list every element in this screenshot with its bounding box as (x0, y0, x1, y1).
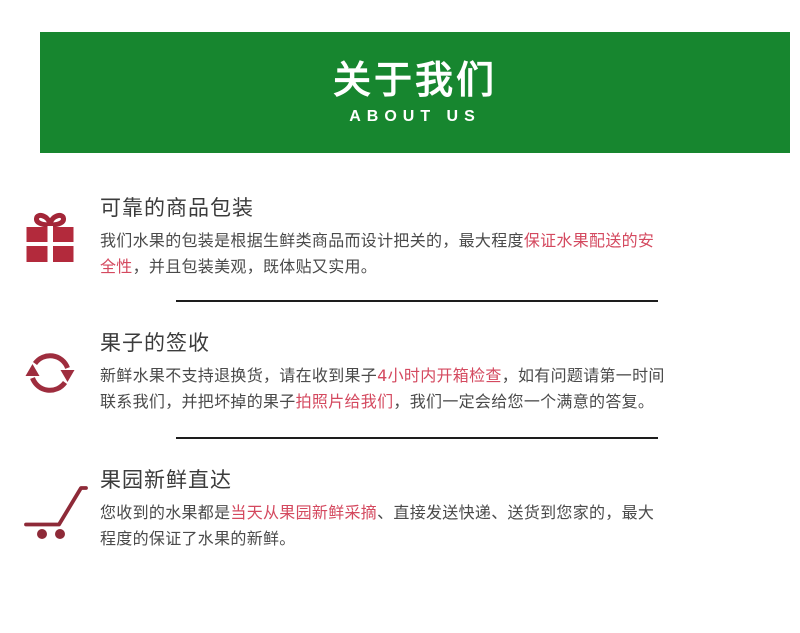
highlighted-text: 4小时内开箱检查 (377, 366, 502, 385)
feature-title: 果园新鲜直达 (100, 467, 670, 493)
feature-body: 果园新鲜直达 您收到的水果都是当天从果园新鲜采摘、直接发送快递、送货到您家的，最… (100, 467, 800, 552)
features-list: 可靠的商品包装 我们水果的包装是根据生鲜类商品而设计把关的，最大程度保证水果配送… (0, 153, 800, 572)
feature-text: 我们水果的包装是根据生鲜类商品而设计把关的，最大程度保证水果配送的安全性，并且包… (100, 228, 670, 280)
feature-item-receiving: 果子的签收 新鲜水果不支持退换货，请在收到果子4小时内开箱检查，如有问题请第一时… (0, 302, 800, 437)
feature-item-packaging: 可靠的商品包装 我们水果的包装是根据生鲜类商品而设计把关的，最大程度保证水果配送… (0, 153, 800, 300)
feature-title: 果子的签收 (100, 330, 670, 356)
refresh-cycle-icon (0, 330, 100, 404)
banner-title-chinese: 关于我们 (333, 59, 497, 104)
banner-title-english: ABOUT US (349, 108, 481, 126)
plain-text: 我们水果的包装是根据生鲜类商品而设计把关的，最大程度 (100, 231, 524, 250)
feature-title: 可靠的商品包装 (100, 195, 670, 221)
feature-item-fresh-delivery: 果园新鲜直达 您收到的水果都是当天从果园新鲜采摘、直接发送快递、送货到您家的，最… (0, 439, 800, 572)
feature-body: 可靠的商品包装 我们水果的包装是根据生鲜类商品而设计把关的，最大程度保证水果配送… (100, 195, 800, 280)
shopping-cart-icon (0, 467, 100, 541)
feature-text: 您收到的水果都是当天从果园新鲜采摘、直接发送快递、送货到您家的，最大程度的保证了… (100, 500, 670, 552)
about-us-page: 关于我们 ABOUT US 可靠的商品包装 我们水果的包装是根据生鲜类商品而设计… (0, 0, 800, 633)
highlighted-text: 拍照片给我们 (296, 392, 394, 411)
feature-body: 果子的签收 新鲜水果不支持退换货，请在收到果子4小时内开箱检查，如有问题请第一时… (100, 330, 800, 415)
plain-text: ，我们一定会给您一个满意的答复。 (393, 392, 654, 411)
gift-box-icon (0, 195, 100, 271)
highlighted-text: 当天从果园新鲜采摘 (230, 503, 377, 522)
plain-text: 您收到的水果都是 (100, 503, 230, 522)
plain-text: 新鲜水果不支持退换货，请在收到果子 (100, 366, 377, 385)
about-us-banner: 关于我们 ABOUT US (40, 32, 790, 153)
plain-text: ，并且包装美观，既体贴又实用。 (133, 257, 378, 276)
feature-text: 新鲜水果不支持退换货，请在收到果子4小时内开箱检查，如有问题请第一时间联系我们，… (100, 363, 670, 415)
